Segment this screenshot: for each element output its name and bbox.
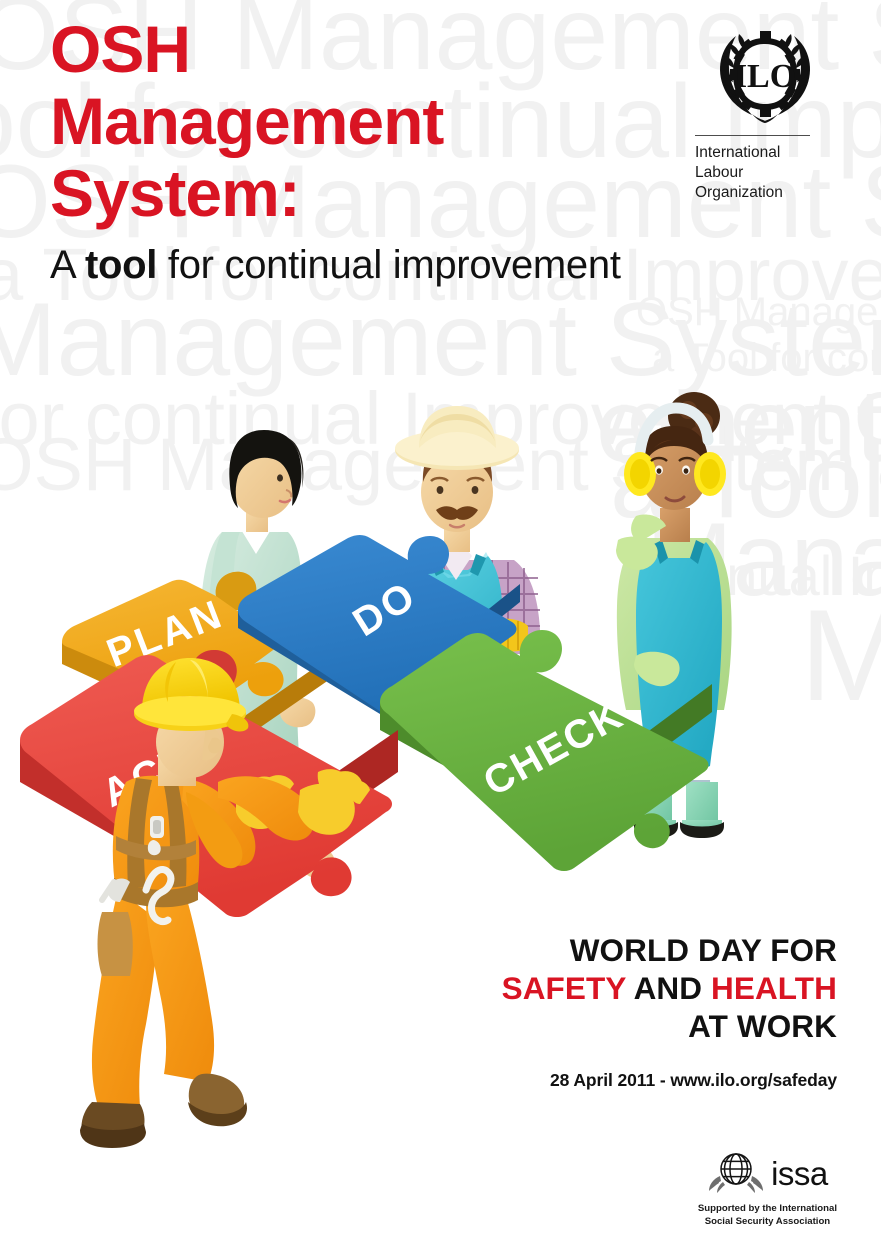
issa-globe-icon [707, 1148, 765, 1198]
title-line-1: OSH [50, 12, 190, 86]
world-day-block: WORLD DAY FOR SAFETY AND HEALTH AT WORK … [502, 932, 837, 1091]
watermark-line: OSH Manageme [636, 292, 881, 332]
world-day-line-2: SAFETY AND HEALTH [502, 970, 837, 1008]
title-block: OSH Management System: A tool for contin… [50, 14, 650, 288]
subtitle-bold-word: tool [85, 243, 157, 287]
world-day-date-url[interactable]: 28 April 2011 - www.ilo.org/safeday [502, 1070, 837, 1091]
title-line-3: System: [50, 156, 300, 230]
poster-page: OSH Management S ool for continual Impro… [0, 0, 881, 1248]
title-line-2: Management [50, 84, 443, 158]
ilo-emblem-letters: ILO [734, 58, 796, 95]
issa-logo-row: issa [698, 1148, 837, 1198]
ilo-name-line-1: International [695, 143, 835, 163]
ilo-emblem-icon: ILO [706, 22, 824, 126]
issa-caption-line-1: Supported by the International [698, 1203, 837, 1216]
ilo-name-line-2: Labour [695, 163, 835, 183]
world-day-line-1: WORLD DAY FOR [502, 932, 837, 970]
world-day-health: HEALTH [711, 970, 837, 1006]
subtitle-pre: A [50, 243, 85, 287]
page-title: OSH Management System: [50, 14, 650, 230]
ilo-organization-name: International Labour Organization [695, 143, 835, 202]
issa-logo: issa Supported by the International Soci… [698, 1148, 837, 1229]
issa-wordmark: issa [771, 1157, 828, 1190]
ilo-logo: ILO International Labour Organization [695, 22, 835, 202]
issa-caption-line-2: Social Security Association [698, 1216, 837, 1229]
ilo-name-line-3: Organization [695, 183, 835, 203]
world-day-and: AND [626, 970, 711, 1006]
world-day-safety: SAFETY [502, 970, 626, 1006]
ilo-divider [695, 135, 810, 136]
world-day-line-3: AT WORK [502, 1008, 837, 1046]
issa-caption: Supported by the International Social Se… [698, 1203, 837, 1229]
page-subtitle: A tool for continual improvement [50, 242, 650, 288]
subtitle-post: for continual improvement [157, 243, 621, 287]
